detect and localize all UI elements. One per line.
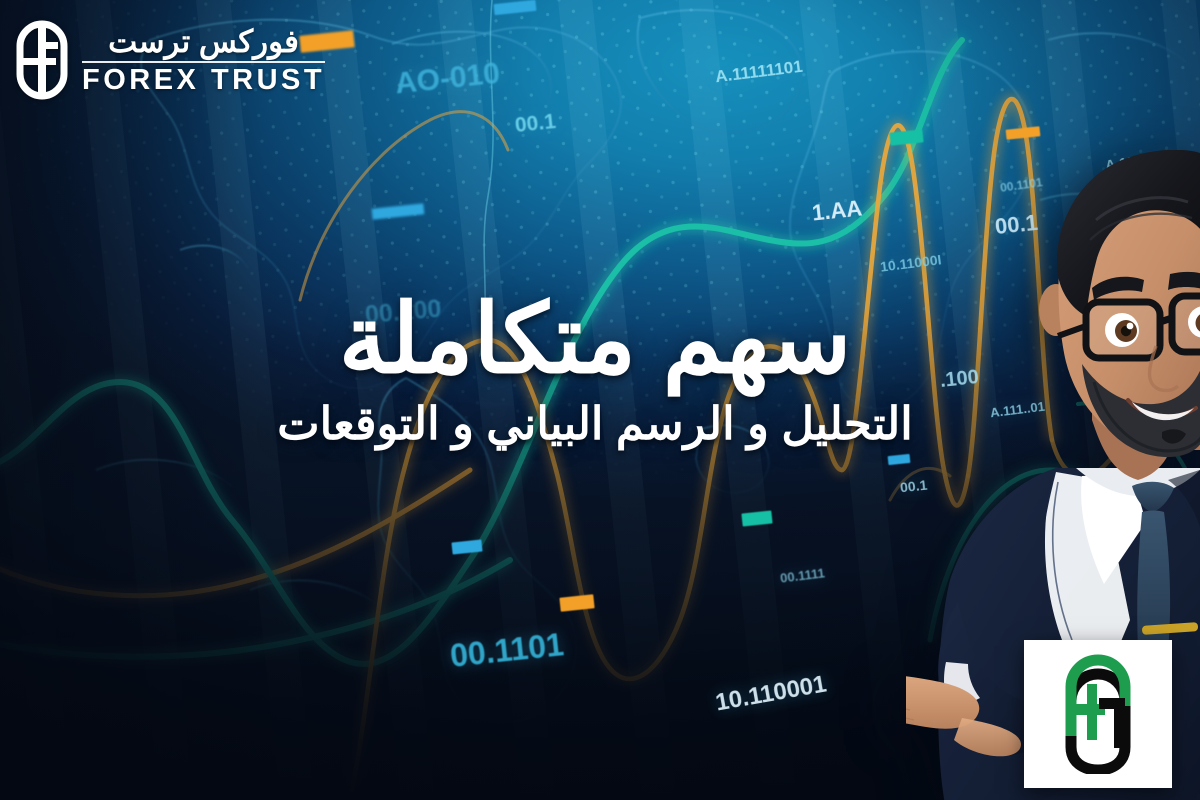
hero-text-block: سهم متكاملة التحليل و الرسم البياني و ال… [245,292,945,447]
brand-divider [82,61,325,63]
brand-text: فوركس ترست FOREX TRUST [82,25,325,96]
page-title: سهم متكاملة [245,292,945,388]
brand-english: FOREX TRUST [82,65,325,95]
hero-banner: AO-01000.1A.11111101A.1111110100.110100.… [0,0,1200,800]
page-subtitle: التحليل و الرسم البياني و التوقعات [245,400,945,447]
brand-lockup[interactable]: فوركس ترست FOREX TRUST [14,18,325,102]
fg-monogram-icon [1055,654,1141,774]
corner-logo-card[interactable] [1024,640,1172,788]
brand-arabic: فوركس ترست [108,25,299,58]
mascot-head [1039,150,1200,457]
fg-monogram-icon [14,18,70,102]
